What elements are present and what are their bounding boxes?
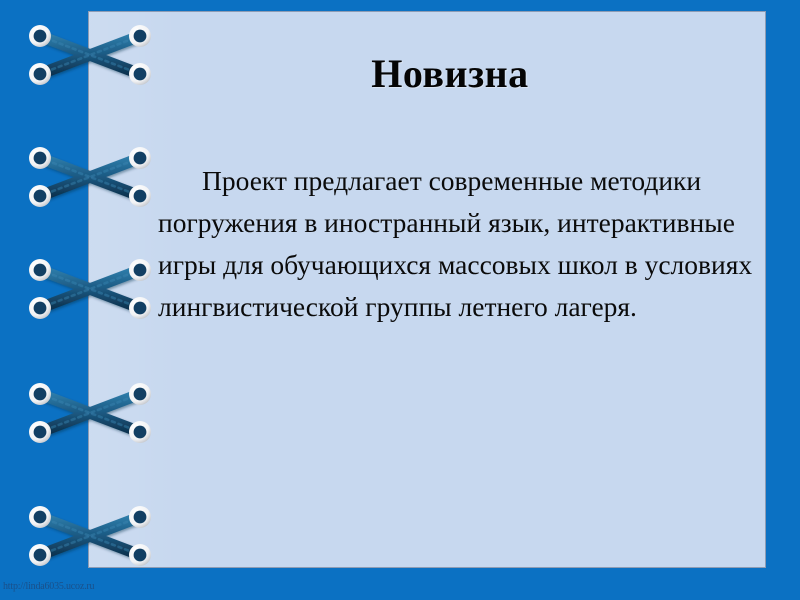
slide-body-text: Проект предлагает современные методики п… [158, 160, 770, 328]
slide-title: Новизна [170, 52, 730, 96]
footer-source-url: http://linda6035.ucoz.ru [3, 581, 94, 592]
slide-canvas: Новизна Проект предлагает современные ме… [0, 0, 800, 600]
